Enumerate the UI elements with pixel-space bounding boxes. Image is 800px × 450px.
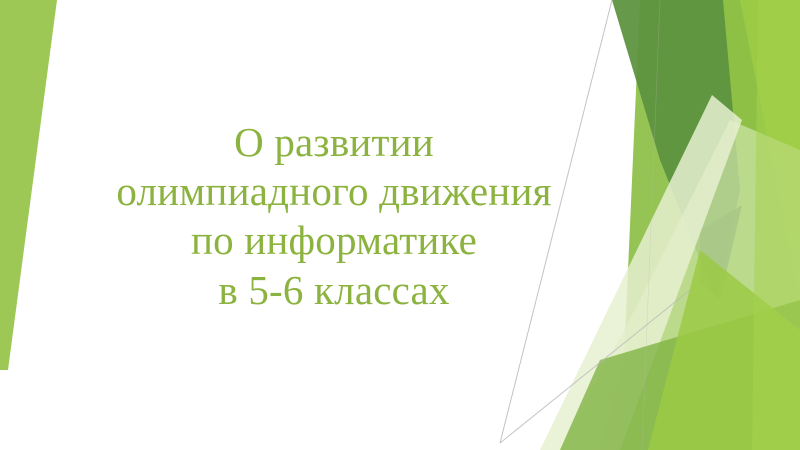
facet-bright-lime-base — [600, 0, 800, 450]
slide-title: О развитии олимпиадного движения по инфо… — [60, 118, 608, 315]
facet-right-light-wash — [752, 0, 800, 450]
title-line-4: в 5-6 классах — [60, 266, 608, 315]
facet-bottom-lime-overlay — [648, 250, 800, 450]
presentation-slide: О развитии олимпиадного движения по инфо… — [0, 0, 800, 450]
title-line-3: по информатике — [60, 216, 608, 265]
facet-dark-green-wedge — [612, 0, 740, 300]
facet-mid-green-band — [620, 0, 800, 450]
title-line-2: олимпиадного движения — [60, 167, 608, 216]
hairline-gray-line-3 — [642, 0, 660, 450]
left-wedge-shape — [0, 0, 57, 370]
facet-bottom-overlay — [560, 300, 800, 450]
facet-deep-green-spike — [700, 205, 742, 300]
title-line-1: О развитии — [60, 118, 608, 167]
